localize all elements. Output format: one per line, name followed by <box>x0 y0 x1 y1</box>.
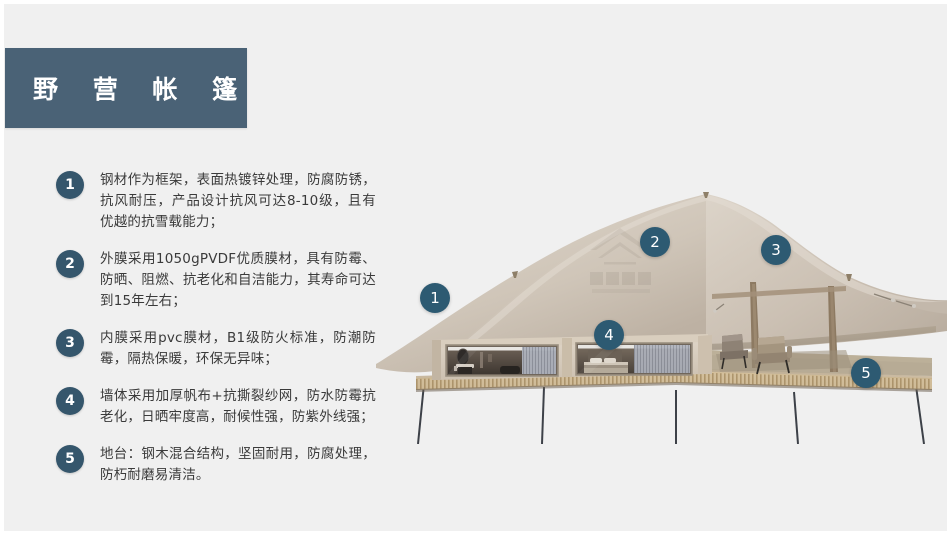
callout-marker-5: 5 <box>851 358 881 388</box>
callout-marker-2: 2 <box>640 227 670 257</box>
window-bathroom <box>446 345 558 376</box>
feature-item-3: 3 内膜采用pvc膜材，B1级防火标准，防潮防霉，隔热保暖，环保无异味； <box>56 328 376 370</box>
feature-item-1: 1 钢材作为框架，表面热镀锌处理，防腐防锈，抗风耐压，产品设计抗风可达8-10级… <box>56 170 376 233</box>
feature-bullet-4: 4 <box>56 387 84 415</box>
deck-steel-legs <box>418 384 924 444</box>
callout-marker-1: 1 <box>420 283 450 313</box>
page-title: 野 营 帐 篷 <box>5 70 250 106</box>
window-bedroom <box>576 343 692 375</box>
feature-bullet-1: 1 <box>56 171 84 199</box>
feature-bullet-5: 5 <box>56 445 84 473</box>
cabin-structure <box>432 334 712 380</box>
feature-item-2: 2 外膜采用1050gPVDF优质膜材，具有防霉、防晒、阻燃、抗老化和自洁能力，… <box>56 249 376 312</box>
feature-text-4: 墙体采用加厚帆布+抗撕裂纱网，防水防霉抗老化，日晒牢度高，耐候性强，防紫外线强； <box>100 386 376 428</box>
feature-bullet-2: 2 <box>56 250 84 278</box>
feature-text-3: 内膜采用pvc膜材，B1级防火标准，防潮防霉，隔热保暖，环保无异味； <box>100 328 376 370</box>
feature-item-4: 4 墙体采用加厚帆布+抗撕裂纱网，防水防霉抗老化，日晒牢度高，耐候性强，防紫外线… <box>56 386 376 428</box>
feature-bullet-3: 3 <box>56 329 84 357</box>
feature-text-2: 外膜采用1050gPVDF优质膜材，具有防霉、防晒、阻燃、抗老化和自洁能力，其寿… <box>100 249 376 312</box>
title-banner: 野 营 帐 篷 <box>5 48 247 128</box>
callout-marker-4: 4 <box>594 320 624 350</box>
tent-illustration <box>376 154 950 444</box>
feature-list: 1 钢材作为框架，表面热镀锌处理，防腐防锈，抗风耐压，产品设计抗风可达8-10级… <box>56 170 376 486</box>
slide-page: 野 营 帐 篷 1 钢材作为框架，表面热镀锌处理，防腐防锈，抗风耐压，产品设计抗… <box>0 0 950 534</box>
feature-text-1: 钢材作为框架，表面热镀锌处理，防腐防锈，抗风耐压，产品设计抗风可达8-10级，且… <box>100 170 376 233</box>
callout-marker-3: 3 <box>761 235 791 265</box>
feature-item-5: 5 地台：钢木混合结构，坚固耐用，防腐处理，防朽耐磨易清洁。 <box>56 444 376 486</box>
feature-text-5: 地台：钢木混合结构，坚固耐用，防腐处理，防朽耐磨易清洁。 <box>100 444 376 486</box>
